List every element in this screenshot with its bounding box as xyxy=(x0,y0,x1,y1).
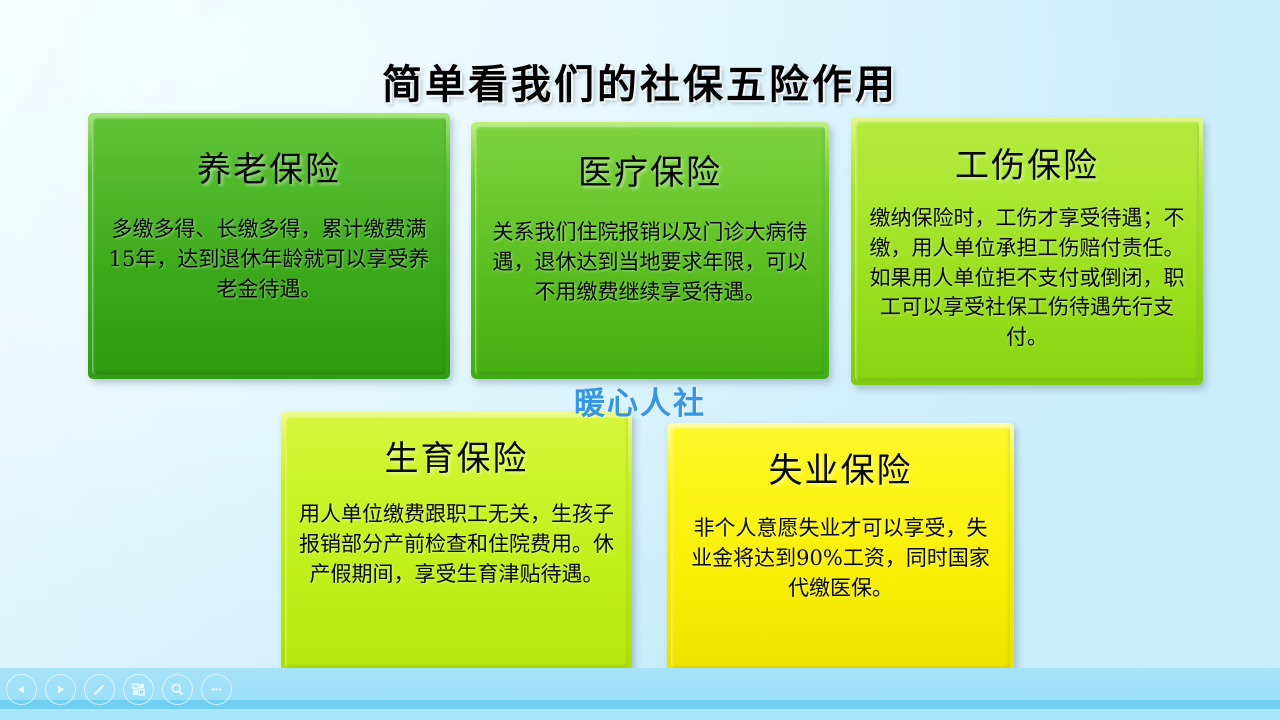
pen-tool-button[interactable] xyxy=(84,674,115,705)
card-work-injury-title: 工伤保险 xyxy=(955,138,1099,187)
slideshow-footer-bar xyxy=(0,668,1280,720)
triangle-right-icon xyxy=(54,683,67,696)
card-pension[interactable]: 养老保险 多缴多得、长缴多得，累计缴费满15年，达到退休年龄就可以享受养老金待遇… xyxy=(88,113,450,379)
card-work-injury[interactable]: 工伤保险 缴纳保险时，工伤才享受待遇；不缴，用人单位承担工伤赔付责任。如果用人单… xyxy=(851,117,1203,385)
card-unemployment-body: 非个人意愿失业才可以享受，失业金将达到90%工资，同时国家代缴医保。 xyxy=(671,514,1010,603)
card-medical-body: 关系我们住院报销以及门诊大病待遇，退休达到当地要求年限，可以不用缴费继续享受待遇… xyxy=(475,218,825,307)
watermark-text: 暖心人社 xyxy=(0,378,1280,423)
previous-slide-button[interactable] xyxy=(6,674,37,705)
card-maternity[interactable]: 生育保险 用人单位缴费跟职工无关，生孩子报销部分产前检查和住院费用。休产假期间，… xyxy=(281,412,632,672)
card-maternity-title: 生育保险 xyxy=(385,431,529,480)
more-options-button[interactable] xyxy=(201,674,232,705)
all-slides-button[interactable] xyxy=(123,674,154,705)
zoom-tool-button[interactable] xyxy=(162,674,193,705)
card-medical-inner: 医疗保险 关系我们住院报销以及门诊大病待遇，退休达到当地要求年限，可以不用缴费继… xyxy=(475,126,825,375)
card-pension-inner: 养老保险 多缴多得、长缴多得，累计缴费满15年，达到退休年龄就可以享受养老金待遇… xyxy=(92,117,446,375)
card-pension-title: 养老保险 xyxy=(197,142,341,191)
footer-lower-band xyxy=(0,709,1280,720)
page-title: 简单看我们的社保五险作用 xyxy=(0,52,1280,110)
card-medical-title: 医疗保险 xyxy=(578,145,722,194)
magnifier-icon xyxy=(170,682,185,697)
grid-icon xyxy=(131,682,146,697)
card-maternity-inner: 生育保险 用人单位缴费跟职工无关，生孩子报销部分产前检查和住院费用。休产假期间，… xyxy=(285,416,628,668)
card-unemployment-inner: 失业保险 非个人意愿失业才可以享受，失业金将达到90%工资，同时国家代缴医保。 xyxy=(671,427,1010,669)
ellipsis-icon xyxy=(209,682,224,697)
card-work-injury-body: 缴纳保险时，工伤才享受待遇；不缴，用人单位承担工伤赔付责任。如果用人单位拒不支付… xyxy=(855,204,1199,353)
slideshow-toolbar xyxy=(6,669,232,709)
card-work-injury-inner: 工伤保险 缴纳保险时，工伤才享受待遇；不缴，用人单位承担工伤赔付责任。如果用人单… xyxy=(855,121,1199,381)
presentation-slide: 简单看我们的社保五险作用 养老保险 多缴多得、长缴多得，累计缴费满15年，达到退… xyxy=(0,0,1280,720)
triangle-left-icon xyxy=(15,683,28,696)
card-pension-body: 多缴多得、长缴多得，累计缴费满15年，达到退休年龄就可以享受养老金待遇。 xyxy=(92,215,446,304)
card-unemployment[interactable]: 失业保险 非个人意愿失业才可以享受，失业金将达到90%工资，同时国家代缴医保。 xyxy=(667,423,1014,673)
card-unemployment-title: 失业保险 xyxy=(769,443,913,492)
pen-icon xyxy=(92,682,107,697)
next-slide-button[interactable] xyxy=(45,674,76,705)
card-maternity-body: 用人单位缴费跟职工无关，生孩子报销部分产前检查和住院费用。休产假期间，享受生育津… xyxy=(285,500,628,589)
card-medical[interactable]: 医疗保险 关系我们住院报销以及门诊大病待遇，退休达到当地要求年限，可以不用缴费继… xyxy=(471,122,829,379)
